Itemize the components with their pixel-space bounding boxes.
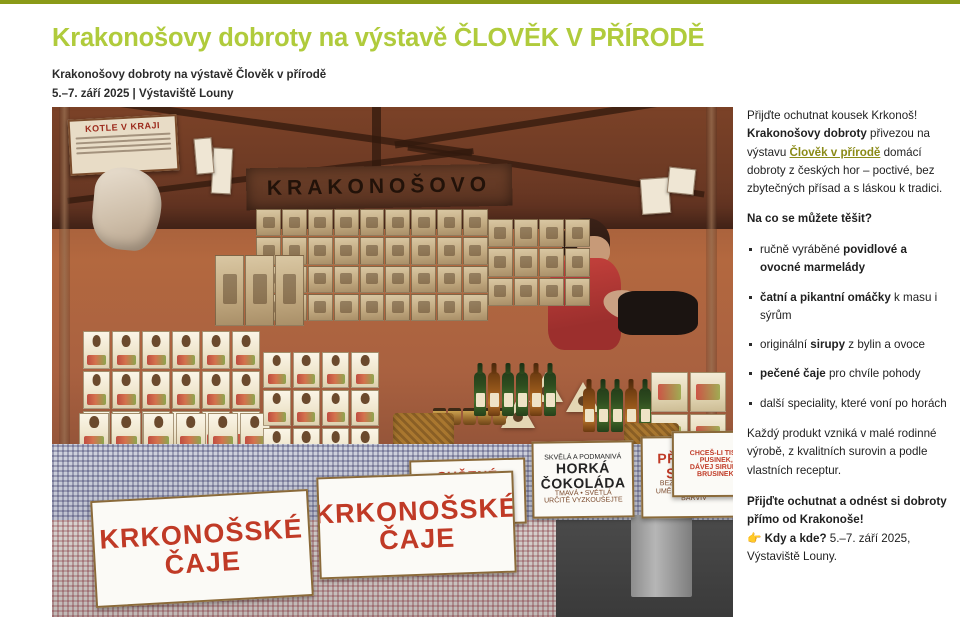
list-item: čatní a pikantní omáčky k masu i sýrům	[747, 289, 947, 326]
sidebar-note: Každý produkt vzniká v malé rodinné výro…	[747, 425, 947, 480]
sign-krkonosske-caje-1-line2: ČAJE	[164, 546, 241, 578]
page-title: Krakonošovy dobroty na výstavě ČLOVĚK V …	[52, 24, 742, 53]
sidebar-intro-paragraph: Přijďte ochutnat kousek Krkonoš! Krakono…	[747, 107, 947, 199]
list-item-pre: originální	[760, 338, 810, 351]
list-item-bold: čatní a pikantní omáčky	[760, 291, 891, 304]
hanging-price-tag	[667, 167, 697, 195]
list-item: pečené čaje pro chvíle pohody	[747, 365, 947, 383]
list-item: další speciality, které voní po horách	[747, 395, 947, 413]
list-item-bold: pečené čaje	[760, 367, 826, 380]
sign-pusinek-line2: DÁVEJ SIRUP Z BRUSINEK.	[676, 464, 733, 479]
dark-bag	[618, 291, 699, 335]
pointing-hand-icon: 👉	[747, 532, 761, 545]
sign-krkonosske-caje-2-line2: ČAJE	[378, 524, 455, 555]
list-item-post: pro chvíle pohody	[826, 367, 921, 380]
sign-pusinek: CHCEŠ-LI TISÍC PUSINEK, DÁVEJ SIRUP Z BR…	[672, 431, 733, 498]
sign-krkonosske-caje-1: KRKONOŠSKÉ ČAJE	[90, 489, 314, 608]
sidebar-heading: Na co se můžete těšit?	[747, 210, 947, 228]
sign-krkonosske-caje-2: KRKONOŠSKÉ ČAJE	[316, 471, 517, 580]
list-item: originální sirupy z bylin a ovoce	[747, 336, 947, 354]
sign-pusinek-line1: CHCEŠ-LI TISÍC PUSINEK,	[676, 449, 733, 464]
hanging-price-tag	[211, 147, 234, 194]
hanging-price-tag	[640, 177, 671, 215]
bottle-row	[474, 372, 556, 416]
sidebar-offer-list: ručně vyráběné povidlové a ovocné marmel…	[747, 241, 947, 413]
product-box-wall	[488, 219, 590, 306]
sidebar-cta-where-label: Kdy a kde?	[765, 532, 827, 545]
market-stall-photo: KOTLE V KRAJI KRAKONOŠOVO	[52, 107, 733, 617]
list-item: ručně vyráběné povidlové a ovocné marmel…	[747, 241, 947, 278]
top-accent-rule	[0, 0, 960, 4]
carton-display-stand	[215, 255, 304, 326]
stall-banner-text: KRAKONOŠOVO	[267, 173, 492, 201]
article-sidebar: Přijďte ochutnat kousek Krkonoš! Krakono…	[747, 107, 947, 579]
list-item-pre: další speciality, které voní po horách	[760, 397, 947, 410]
photo-scene: KOTLE V KRAJI KRAKONOŠOVO	[52, 107, 733, 617]
page-root: Krakonošovy dobroty na výstavě ČLOVĚK V …	[0, 0, 960, 635]
sign-horka-cokolada: SKVĚLÁ A PODMANIVÁ HORKÁ ČOKOLÁDA TMAVÁ …	[532, 440, 635, 518]
hanging-price-tag	[193, 137, 214, 174]
sidebar-intro-brand: Krakonošovy dobroty	[747, 127, 867, 140]
sign-horka-cokolada-line2: ČOKOLÁDA	[541, 475, 626, 491]
list-item-bold: sirupy	[810, 338, 845, 351]
sign-horka-cokolada-line4: URČITĚ VYZKOUŠEJTE	[544, 497, 623, 505]
article-dateline: 5.–7. září 2025 | Výstaviště Louny	[52, 85, 742, 104]
list-item-post: z bylin a ovoce	[845, 338, 925, 351]
article-header: Krakonošovy dobroty na výstavě ČLOVĚK V …	[52, 24, 742, 104]
sidebar-exhibition-link[interactable]: Člověk v přírodě	[790, 146, 881, 159]
article-subtitle: Krakonošovy dobroty na výstavě Člověk v …	[52, 66, 742, 85]
sidebar-intro-part1: Přijďte ochutnat kousek Krkonoš!	[747, 109, 917, 122]
sidebar-cta: Přijďte ochutnat a odnést si dobroty pří…	[747, 493, 947, 566]
stall-banner: KRAKONOŠOVO	[246, 163, 512, 209]
sidebar-heading-text: Na co se můžete těšit?	[747, 212, 872, 225]
sidebar-cta-bold: Přijďte ochutnat a odnést si dobroty pří…	[747, 495, 947, 526]
metal-bin	[631, 515, 692, 597]
list-item-pre: ručně vyráběné	[760, 243, 843, 256]
